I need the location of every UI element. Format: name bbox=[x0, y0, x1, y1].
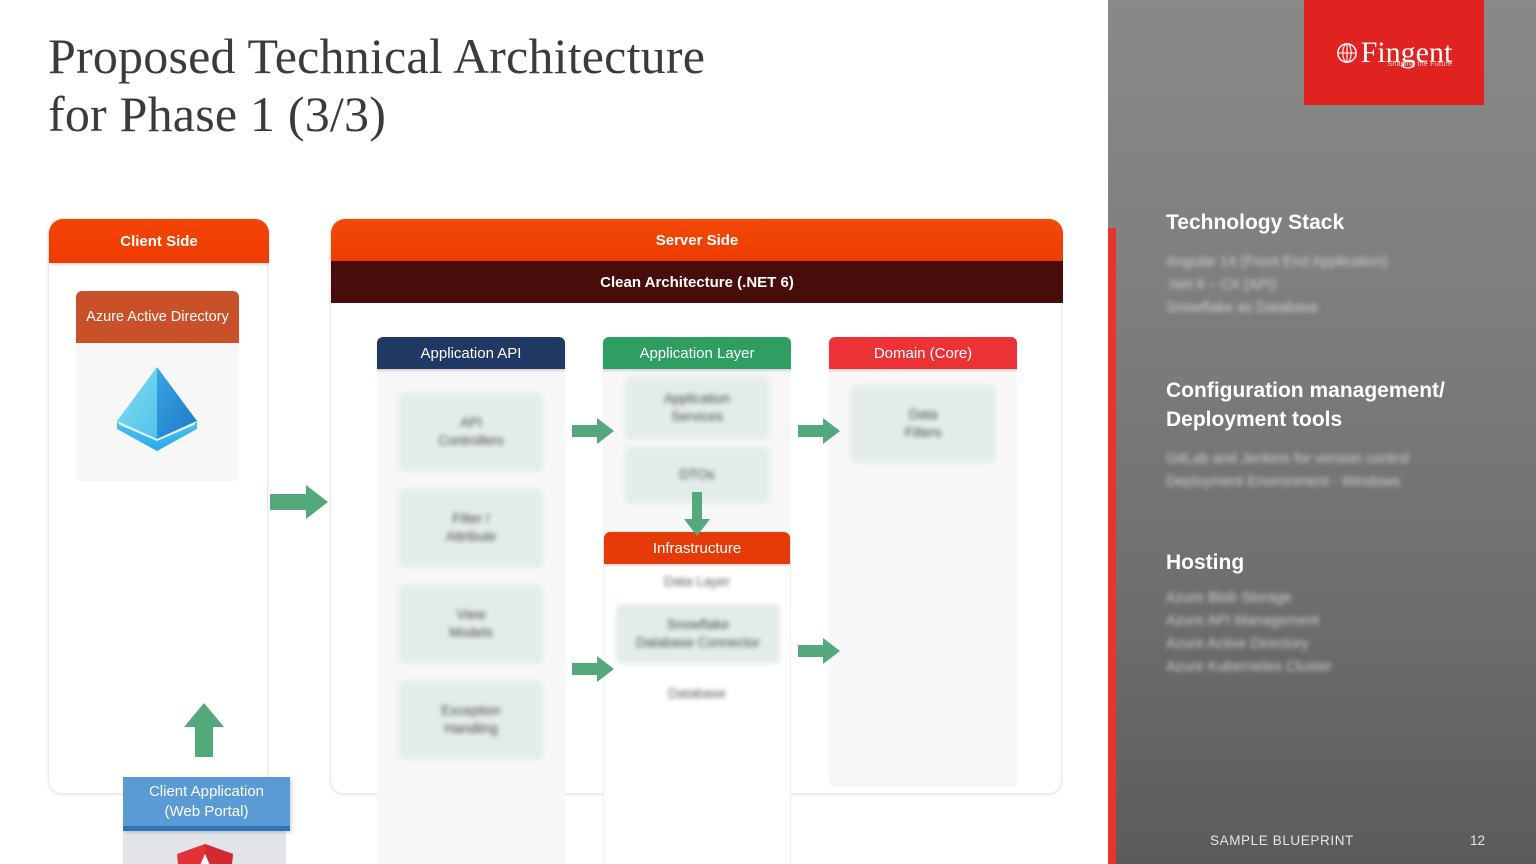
slide-canvas: Proposed Technical Architecture for Phas… bbox=[0, 0, 1536, 864]
box-view-models: ViewModels bbox=[399, 585, 543, 663]
arrow-application-layer-to-infrastructure-icon bbox=[683, 491, 711, 537]
sidebar-section-hosting: Hosting Azure Blob Storage Azure API Man… bbox=[1166, 548, 1496, 679]
box-filter-attribute: Filter /Attribute bbox=[399, 489, 543, 567]
list-item: Azure Kubernetes Cluster bbox=[1166, 656, 1496, 679]
page-title-line1: Proposed Technical Architecture bbox=[48, 28, 705, 84]
angular-card: Angular 14 with HTML5 CSS 3 bbox=[123, 827, 286, 864]
column-domain-core: Domain (Core) DataFilters bbox=[829, 337, 1017, 787]
footer-label: SAMPLE BLUEPRINT bbox=[1210, 833, 1354, 848]
column-application-api-title: Application API bbox=[377, 337, 565, 369]
list-item: .Net 6 – C# (API) bbox=[1166, 274, 1496, 297]
client-application-box: Client Application (Web Portal) bbox=[123, 777, 290, 831]
brand-logo: Fingent Shaping the Future bbox=[1304, 0, 1484, 105]
brand-logo-tagline: Shaping the Future bbox=[1387, 50, 1452, 80]
list-item: Snowflake as Database bbox=[1166, 297, 1496, 320]
page-title-line2: for Phase 1 (3/3) bbox=[48, 86, 948, 144]
list-item: Angular 14 (Front End Application) bbox=[1166, 251, 1496, 274]
angular-logo-icon bbox=[174, 842, 236, 864]
client-side-header: Client Side bbox=[49, 219, 269, 263]
box-data-filters: DataFilters bbox=[851, 385, 995, 463]
clean-architecture-bar: Clean Architecture (.NET 6) bbox=[331, 261, 1063, 303]
server-side-header: Server Side bbox=[331, 219, 1063, 261]
arrow-infrastructure-to-domain-icon bbox=[797, 637, 841, 665]
green-up-arrow-icon bbox=[183, 701, 225, 759]
sidebar-list-hosting: Azure Blob Storage Azure API Management … bbox=[1166, 587, 1496, 679]
sidebar-section-configuration-management: Configuration management/ Deployment too… bbox=[1166, 376, 1496, 494]
sidebar-section-technology-stack: Technology Stack Angular 14 (Front End A… bbox=[1166, 208, 1496, 320]
azure-active-directory-icon bbox=[107, 359, 207, 459]
list-item: Deployment Environment - Windows bbox=[1166, 471, 1496, 494]
list-item: Azure API Management bbox=[1166, 610, 1496, 633]
box-api-controllers: APIControllers bbox=[399, 393, 543, 471]
box-snowflake-database-connector: SnowflakeDatabase Connector bbox=[616, 604, 780, 664]
sidebar-heading-configuration-management: Configuration management/ bbox=[1166, 376, 1496, 405]
list-item: Azure Blob Storage bbox=[1166, 587, 1496, 610]
column-infrastructure: Infrastructure Data Layer SnowflakeDatab… bbox=[603, 531, 791, 864]
box-application-services: ApplicationServices bbox=[625, 377, 769, 439]
fingent-globe-icon bbox=[1336, 42, 1358, 64]
footer-page-number: 12 bbox=[1470, 833, 1485, 848]
client-application-line1: Client Application bbox=[149, 783, 264, 800]
column-domain-core-title: Domain (Core) bbox=[829, 337, 1017, 369]
sidebar-heading-deployment-tools: Deployment tools bbox=[1166, 405, 1496, 434]
page-title: Proposed Technical Architecture for Phas… bbox=[48, 28, 948, 143]
column-application-layer-title: Application Layer bbox=[603, 337, 791, 369]
sidebar-accent-bar bbox=[1108, 228, 1116, 864]
sidebar-heading-technology-stack: Technology Stack bbox=[1166, 208, 1496, 237]
arrow-api-to-infrastructure-icon bbox=[571, 655, 615, 683]
arrow-client-to-server-icon bbox=[268, 482, 330, 522]
sidebar-list-configuration-management: GitLab and Jenkins for version control D… bbox=[1166, 448, 1496, 494]
column-application-api: Application API APIControllers Filter /A… bbox=[377, 337, 565, 864]
arrow-application-layer-to-domain-icon bbox=[797, 417, 841, 445]
list-item: GitLab and Jenkins for version control bbox=[1166, 448, 1496, 471]
label-database: Database bbox=[604, 682, 790, 706]
azure-active-directory-title: Azure Active Directory bbox=[76, 291, 239, 343]
client-application-line2: (Web Portal) bbox=[165, 803, 249, 820]
box-exception-handling: ExceptionHandling bbox=[399, 681, 543, 759]
server-side-panel: Server Side Clean Architecture (.NET 6) … bbox=[330, 218, 1062, 794]
sidebar-list-technology-stack: Angular 14 (Front End Application) .Net … bbox=[1166, 251, 1496, 320]
client-side-panel: Client Side Azure Active Directory bbox=[48, 218, 268, 794]
arrow-api-to-application-layer-icon bbox=[571, 417, 615, 445]
azure-active-directory-card: Azure Active Directory bbox=[76, 291, 239, 481]
list-item: Azure Active Directory bbox=[1166, 633, 1496, 656]
label-data-layer: Data Layer bbox=[604, 570, 790, 594]
sidebar-heading-hosting: Hosting bbox=[1166, 548, 1496, 577]
